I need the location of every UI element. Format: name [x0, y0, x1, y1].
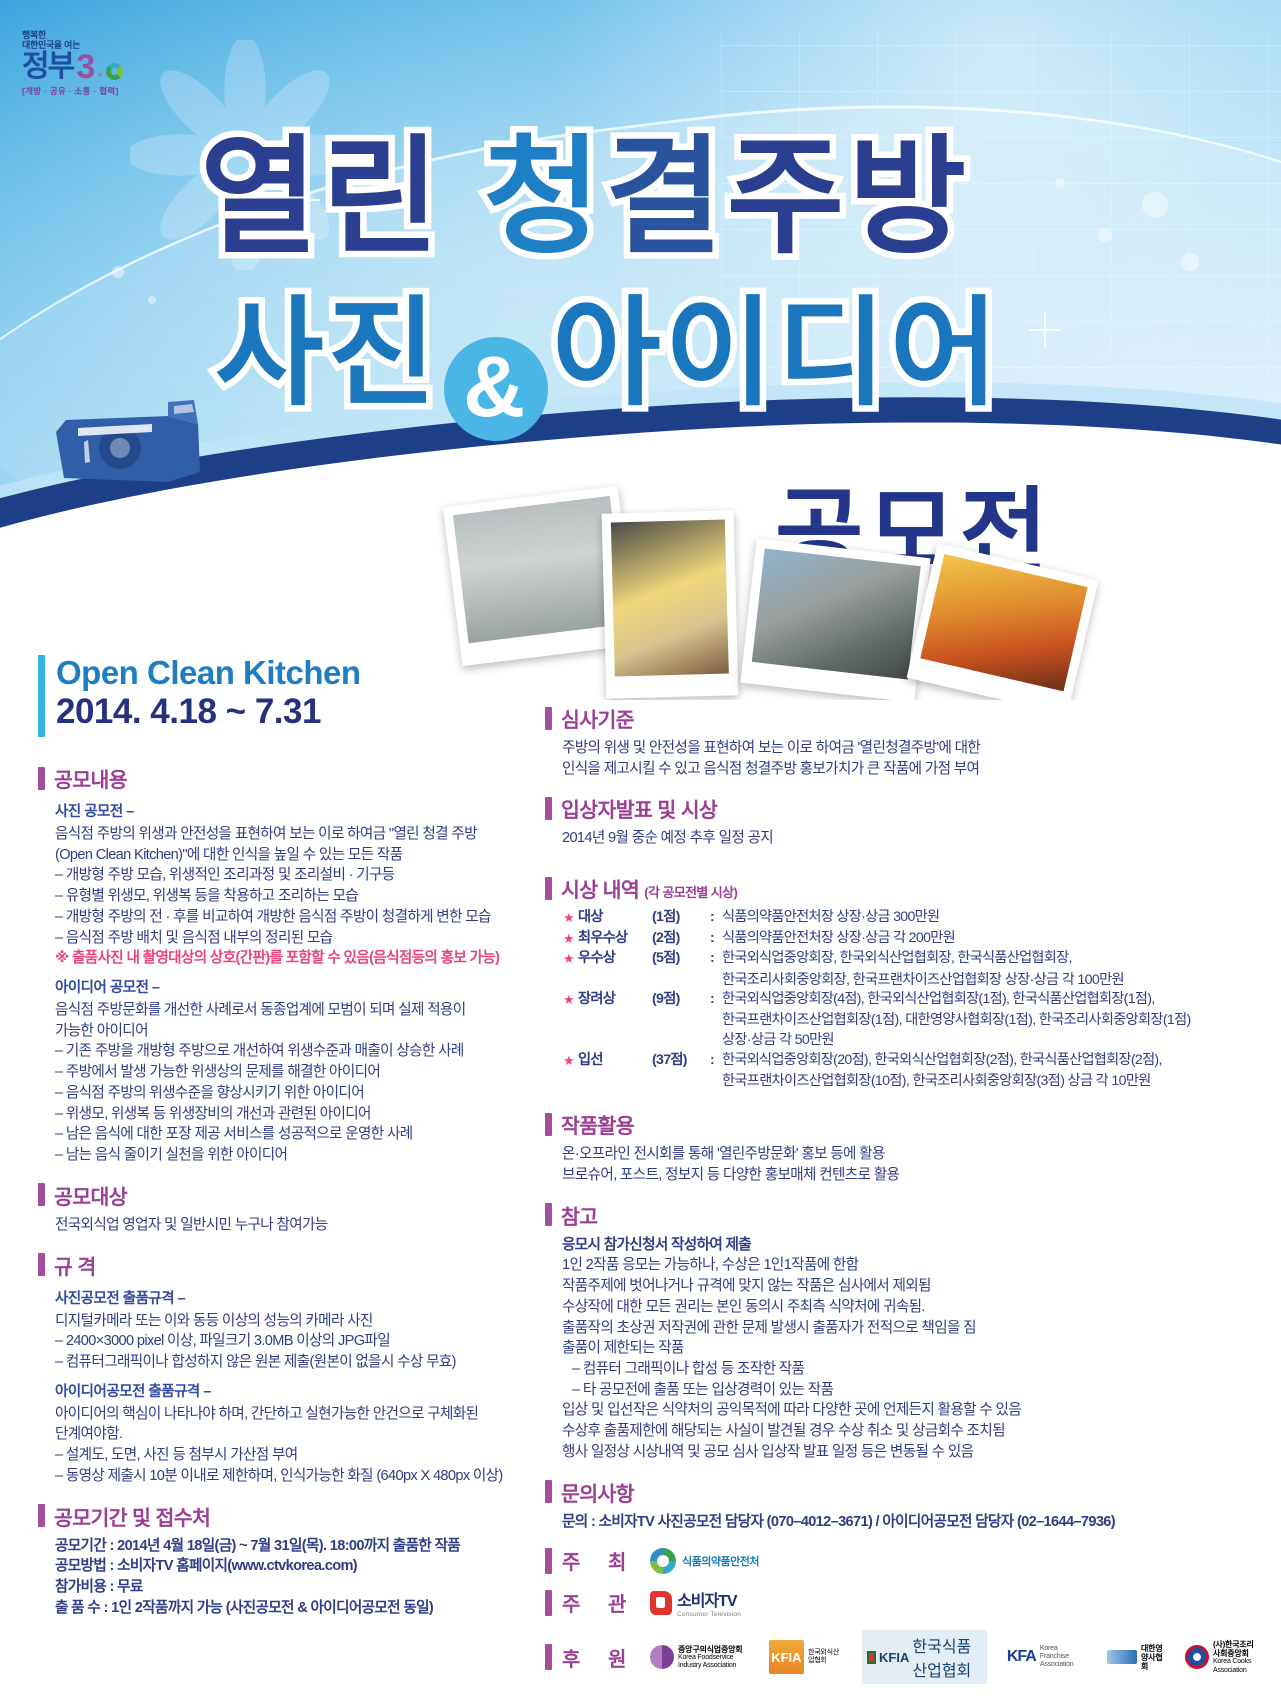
award-row: ★ 대상 (1점) : 식품의약품안전처장 상장·상금 300만원 [563, 908, 1257, 928]
accent-bar [545, 1113, 552, 1136]
award-name: 입선 [578, 1051, 652, 1070]
accent-bar [545, 707, 552, 730]
title-line-1: 열린 청결주방 [200, 93, 970, 278]
section-criteria: 심사기준 주방의 위생 및 안전성을 표현하여 보는 이로 하여금 '열린청결주… [545, 703, 1257, 779]
photo-image [611, 520, 729, 677]
mfds-ring-icon [650, 1548, 676, 1574]
section-title: 시상 내역 (각 공모전별 시상) [561, 873, 737, 903]
sponsor-sub: Korea Franchise Association [1040, 1645, 1087, 1669]
spec-idea-subhead: 아이디어공모전 출품규격 – [55, 1380, 536, 1401]
section-title: 작품활용 [561, 1109, 634, 1139]
sponsor-sub: Korea Cooks Association [1213, 1658, 1251, 1673]
sponsor-name: (사)한국조리사회중앙회 [1213, 1640, 1257, 1658]
photo-note: ※ 출품사진 내 촬영대상의 상호(간판)를 포함할 수 있음(음식점등의 홍보… [55, 948, 536, 969]
notes-line: 행사 일정상 시상내역 및 공모 심사 입상작 발표 일정 등은 변동될 수 있… [562, 1442, 1257, 1463]
sponsor-emblem-icon [1185, 1645, 1209, 1669]
announcement-text: 2014년 9월 중순 예정 추후 일정 공지 [562, 828, 1257, 849]
photo-item: – 개방형 주방 모습, 위생적인 조리과정 및 조리설비 · 기구등 [55, 865, 536, 886]
period-row: 참가비용 : 무료 [55, 1577, 536, 1598]
award-points: (37점) [652, 1051, 710, 1070]
ctv-mark-icon [650, 1591, 672, 1615]
award-name: 대상 [578, 908, 652, 927]
title-open: 열린 [200, 126, 483, 269]
notes-line: 출품이 제한되는 작품 [562, 1338, 1257, 1359]
photo-item: – 유형별 위생모, 위생복 등을 착용하고 조리하는 모습 [55, 886, 536, 907]
star-icon: ★ [563, 929, 578, 949]
award-name: 우수상 [578, 949, 652, 968]
spec-photo-line: 디지털카메라 또는 이와 동등 이상의 성능의 카메라 사진 [55, 1311, 536, 1332]
sponsor-logo: KFIA 한국외식산업협회 [769, 1640, 842, 1674]
sponsor-logos: 중앙구의식업중앙회Korea Foodservice Industry Asso… [650, 1630, 1257, 1684]
section-body: 사진 공모전 – 음식점 주방의 위생과 안전성을 표현하여 보는 이로 하여금… [38, 800, 536, 1166]
usage-line: 온·오프라인 전시회를 통해 '열린주방문화' 홍보 등에 활용 [562, 1144, 1257, 1165]
spec-idea-item: – 동영상 제출시 10분 이내로 제한하며, 인식가능한 화질 (640px … [55, 1466, 536, 1487]
spec-idea-line-1: 아이디어의 핵심이 나타나야 하며, 간단하고 실현가능한 안건으로 구체화된 [55, 1404, 536, 1425]
awards-table: ★ 대상 (1점) : 식품의약품안전처장 상장·상금 300만원 ★ 최우수상… [545, 908, 1257, 1091]
spec-idea-item: – 설계도, 도면, 사진 등 첨부시 가산점 부여 [55, 1445, 536, 1466]
award-colon: : [710, 1051, 722, 1070]
photo-restaurant-interior [602, 510, 739, 698]
ctv-logo-name: 소비자TV [677, 1587, 741, 1611]
camera-icon [48, 390, 213, 500]
host-label: 주 최 [562, 1546, 640, 1575]
award-points: (1점) [652, 908, 710, 927]
award-desc-cont: 한국프랜차이즈산업협회장(1점), 대한영양사협회장(1점), 한국조리사회중앙… [563, 1010, 1257, 1030]
section-header: 심사기준 [545, 703, 1257, 733]
section-body: 응모시 참가신청서 작성하여 제출 1인 2작품 응모는 가능하나, 수상은 1… [545, 1235, 1257, 1463]
period-row: 출 품 수 : 1인 2작품까지 가능 (사진공모전 & 아이디어공모전 동일) [55, 1598, 536, 1619]
section-header: 문의사항 [545, 1477, 1257, 1507]
section-target: 공모대상 전국외식업 영업자 및 일반시민 누구나 참여가능 [38, 1180, 536, 1236]
section-awards: 시상 내역 (각 공모전별 시상) ★ 대상 (1점) : 식품의약품안전처장 … [545, 873, 1257, 1091]
section-title: 공모기간 및 접수처 [54, 1501, 210, 1531]
section-header: 규 격 [38, 1250, 536, 1280]
section-body: 온·오프라인 전시회를 통해 '열린주방문화' 홍보 등에 활용 브로슈어, 포… [545, 1144, 1257, 1185]
spec-photo-item: – 컴퓨터그래픽이나 합성하지 않은 원본 제출(원본이 없을시 수상 무효) [55, 1352, 536, 1373]
sponsor-logo: 중앙구의식업중앙회Korea Foodservice Industry Asso… [650, 1645, 749, 1670]
section-title: 규 격 [54, 1250, 96, 1280]
criteria-line-1: 주방의 위생 및 안전성을 표현하여 보는 이로 하여금 '열린청결주방'에 대… [562, 738, 1257, 759]
sponsor-logo: 대한영양사협회 [1107, 1644, 1165, 1672]
sponsor-name: 대한영양사협회 [1141, 1644, 1165, 1672]
award-desc: 한국외식업중앙회장(20점), 한국외식산업협회장(2점), 한국식품산업협회장… [722, 1051, 1257, 1070]
idea-contest-subhead: 아이디어 공모전 – [55, 976, 536, 997]
ampersand-icon: & [444, 337, 548, 441]
idea-item: – 남는 음식 줄이기 실천을 위한 아이디어 [55, 1145, 536, 1166]
section-usage: 작품활용 온·오프라인 전시회를 통해 '열린주방문화' 홍보 등에 활용 브로… [545, 1109, 1257, 1185]
award-row: ★ 장려상 (9점) : 한국외식업중앙회장(4점), 한국외식산업협회장(1점… [563, 990, 1257, 1010]
accent-bar [545, 1644, 552, 1670]
sponsor-name: KFA [1007, 1648, 1036, 1666]
award-desc-cont: 상장·상금 각 50만원 [563, 1030, 1257, 1050]
star-icon: ★ [563, 949, 578, 969]
accent-bar [545, 877, 552, 900]
star-icon: ★ [563, 1051, 578, 1071]
accent-bar [545, 1203, 552, 1226]
title-idea: 아이디어 [552, 288, 1002, 420]
section-contents: 공모내용 사진 공모전 – 음식점 주방의 위생과 안전성을 표현하여 보는 이… [38, 763, 536, 1166]
title-clean-2: 결 [605, 126, 727, 269]
award-points: (2점) [652, 929, 710, 948]
sponsor-logo: (사)한국조리사회중앙회Korea Cooks Association [1185, 1640, 1257, 1674]
award-desc: 식품의약품안전처장 상장·상금 300만원 [722, 908, 1257, 927]
award-colon: : [710, 990, 722, 1009]
section-title: 참고 [561, 1200, 598, 1230]
award-desc-cont: 한국조리사회중앙회장, 한국프랜차이즈산업협회장 상장·상금 각 100만원 [563, 970, 1257, 990]
gov-logo-line1: 행복한 [22, 30, 182, 40]
criteria-line-2: 인식을 제고시킬 수 있고 음식점 청결주방 홍보가치가 큰 작품에 가점 부여 [562, 759, 1257, 780]
award-desc: 한국외식업중앙회장(4점), 한국외식산업협회장(1점), 한국식품산업협회장(… [722, 990, 1257, 1009]
period-row: 공모방법 : 소비자TV 홈페이지(www.ctvkorea.com) [55, 1556, 536, 1577]
usage-line: 브로슈어, 포스트, 정보지 등 다양한 홍보매체 컨텐츠로 활용 [562, 1165, 1257, 1186]
photo-intro-line-1: 음식점 주방의 위생과 안전성을 표현하여 보는 이로 하여금 "열린 청결 주… [55, 824, 536, 845]
organizer-row: 주 관 소비자TV Consumer Television [545, 1587, 1257, 1618]
title-clean-1: 청 [483, 126, 605, 269]
idea-item: – 기존 주방을 개방형 주방으로 개선하여 위생수준과 매출이 상승한 사례 [55, 1041, 536, 1062]
section-header: 작품활용 [545, 1109, 1257, 1139]
sponsor-sub: 한국외식산업협회 [808, 1649, 839, 1664]
photo-item: – 개방형 주방의 전 · 후를 비교하여 개방한 음식점 주방이 청결하게 변… [55, 907, 536, 928]
section-body: 문의 : 소비자TV 사진공모전 담당자 (070–4012–3671) / 아… [545, 1512, 1257, 1533]
notes-first: 응모시 참가신청서 작성하여 제출 [562, 1235, 1257, 1256]
notes-line: 출품작의 초상권 저작권에 관한 문제 발생시 출품자가 전적으로 책임을 짐 [562, 1318, 1257, 1339]
sponsor-name: KFIA [879, 1650, 909, 1665]
idea-item: – 위생모, 위생복 등 위생장비의 개선과 관련된 아이디어 [55, 1104, 536, 1125]
award-desc-cont: 한국프랜차이즈산업협회장(10점), 한국조리사회중앙회장(3점) 상금 각 1… [563, 1071, 1257, 1091]
program-title-block: Open Clean Kitchen 2014. 4.18 ~ 7.31 [38, 655, 536, 737]
award-points: (9점) [652, 990, 710, 1009]
notes-line: 수상작에 대한 모든 권리는 본인 동의시 주최측 식약처에 귀속됨. [562, 1297, 1257, 1318]
awards-heading-sub: (각 공모전별 시상) [644, 885, 737, 900]
accent-bar [38, 655, 45, 737]
section-period: 공모기간 및 접수처 공모기간 : 2014년 4월 18일(금) ~ 7월 3… [38, 1501, 536, 1619]
section-title: 공모내용 [54, 763, 127, 793]
sponsor-sub: 한국식품산업협회 [912, 1633, 981, 1681]
award-name: 최우수상 [578, 929, 652, 948]
sponsor-sub: Korea Foodservice Industry Association [678, 1654, 736, 1669]
sponsor-logo: KFA Korea Franchise Association [1007, 1645, 1087, 1669]
photo-intro-line-2: (Open Clean Kitchen)"에 대한 인식을 높일 수 있는 모든… [55, 845, 536, 866]
accent-bar [545, 1590, 552, 1616]
period-row: 공모기간 : 2014년 4월 18일(금) ~ 7월 31일(목). 18:0… [55, 1536, 536, 1557]
photo-open-counter [740, 539, 930, 700]
award-colon: : [710, 949, 722, 968]
spec-photo-subhead: 사진공모전 출품규격 – [55, 1287, 536, 1308]
section-title: 공모대상 [54, 1180, 127, 1210]
accent-bar [38, 1183, 45, 1206]
spec-photo-item: – 2400×3000 pixel 이상, 파일크기 3.0MB 이상의 JPG… [55, 1331, 536, 1352]
award-row: ★ 우수상 (5점) : 한국외식업중앙회장, 한국외식산업협회장, 한국식품산… [563, 949, 1257, 969]
accent-bar [545, 1480, 552, 1503]
sponsor-emblem-icon [1107, 1650, 1137, 1664]
section-notes: 참고 응모시 참가신청서 작성하여 제출 1인 2작품 응모는 가능하나, 수상… [545, 1200, 1257, 1463]
notes-line: – 타 공모전에 출품 또는 입상경력이 있는 작품 [562, 1380, 1257, 1401]
right-column: 심사기준 주방의 위생 및 안전성을 표현하여 보는 이로 하여금 '열린청결주… [545, 703, 1257, 1684]
sponsors-label: 후 원 [562, 1643, 640, 1672]
poster-banner: 행복한 대한민국을 여는 정부 3 . [개방 · 공유 · 소통 · 협력] … [0, 0, 1281, 700]
award-desc: 식품의약품안전처장 상장·상금 각 200만원 [722, 929, 1257, 948]
section-title: 심사기준 [561, 703, 634, 733]
host-row: 주 최 식품의약품안전처 [545, 1546, 1257, 1575]
photo-image [752, 549, 921, 680]
program-dates: 2014. 4.18 ~ 7.31 [56, 692, 361, 731]
spec-idea-line-2: 단계여야함. [55, 1424, 536, 1445]
idea-item: – 남은 음식에 대한 포장 제공 서비스를 성공적으로 운영한 사례 [55, 1124, 536, 1145]
program-title: Open Clean Kitchen [56, 655, 361, 692]
section-inquiry: 문의사항 문의 : 소비자TV 사진공모전 담당자 (070–4012–3671… [545, 1477, 1257, 1533]
photo-image [920, 554, 1087, 691]
sponsor-emblem-icon [650, 1645, 674, 1669]
section-header: 공모기간 및 접수처 [38, 1501, 536, 1531]
star-icon: ★ [563, 990, 578, 1010]
title-kitchen: 주방 [727, 126, 971, 269]
section-title: 문의사항 [561, 1477, 634, 1507]
section-header: 참고 [545, 1200, 1257, 1230]
organizer-label: 주 관 [562, 1588, 640, 1617]
section-header: 입상자발표 및 시상 [545, 793, 1257, 823]
section-body: 사진공모전 출품규격 – 디지털카메라 또는 이와 동등 이상의 성능의 카메라… [38, 1287, 536, 1487]
section-header: 시상 내역 (각 공모전별 시상) [545, 873, 1257, 903]
award-colon: : [710, 908, 722, 927]
sponsors-row: 후 원 중앙구의식업중앙회Korea Foodservice Industry … [545, 1630, 1257, 1684]
accent-bar [38, 767, 45, 790]
section-body: 공모기간 : 2014년 4월 18일(금) ~ 7월 31일(목). 18:0… [38, 1536, 536, 1619]
sponsor-name: 중앙구의식업중앙회 [678, 1645, 749, 1654]
section-body: 전국외식업 영업자 및 일반시민 누구나 참여가능 [38, 1215, 536, 1236]
section-header: 공모대상 [38, 1180, 536, 1210]
accent-bar [38, 1504, 45, 1527]
award-desc: 한국외식업중앙회장, 한국외식산업협회장, 한국식품산업협회장, [722, 949, 1257, 968]
star-icon: ★ [563, 908, 578, 928]
idea-item: – 음식점 주방의 위생수준을 향상시키기 위한 아이디어 [55, 1083, 536, 1104]
mfds-logo-name: 식품의약품안전처 [682, 1553, 759, 1569]
title-photo: 사진 [215, 288, 440, 420]
accent-bar [545, 797, 552, 820]
photo-item: – 음식점 주방 배치 및 음식점 내부의 정리된 모습 [55, 928, 536, 949]
sponsor-logo: KFIA 한국식품산업협회 [862, 1630, 987, 1684]
inquiry-text: 문의 : 소비자TV 사진공모전 담당자 (070–4012–3671) / 아… [562, 1512, 1257, 1533]
photo-contest-subhead: 사진 공모전 – [55, 800, 536, 821]
idea-item: – 주방에서 발생 가능한 위생상의 문제를 해결한 아이디어 [55, 1062, 536, 1083]
sponsor-emblem-icon: KFIA [769, 1640, 804, 1674]
notes-line: 입상 및 입선작은 식약처의 공익목적에 따라 다양한 곳에 언제든지 활용할 … [562, 1400, 1257, 1421]
award-points: (5점) [652, 949, 710, 968]
idea-intro-line-2: 가능한 아이디어 [55, 1021, 536, 1042]
award-row: ★ 최우수상 (2점) : 식품의약품안전처장 상장·상금 각 200만원 [563, 929, 1257, 949]
award-colon: : [710, 929, 722, 948]
title-line-2: 사진&아이디어 [215, 257, 1002, 441]
gov-logo-line2: 대한민국을 여는 [22, 40, 182, 50]
ctv-logo-sub: Consumer Television [677, 1611, 741, 1618]
section-spec: 규 격 사진공모전 출품규격 – 디지털카메라 또는 이와 동등 이상의 성능의… [38, 1250, 536, 1487]
award-name: 장려상 [578, 990, 652, 1009]
section-header: 공모내용 [38, 763, 536, 793]
award-row: ★ 입선 (37점) : 한국외식업중앙회장(20점), 한국외식산업협회장(2… [563, 1051, 1257, 1071]
notes-line: 1인 2작품 응모는 가능하나, 수상은 1인1작품에 한함 [562, 1255, 1257, 1276]
section-title: 입상자발표 및 시상 [561, 793, 717, 823]
accent-bar [545, 1548, 552, 1574]
target-text: 전국외식업 영업자 및 일반시민 누구나 참여가능 [55, 1215, 536, 1236]
section-body: 2014년 9월 중순 예정 추후 일정 공지 [545, 828, 1257, 849]
awards-heading: 시상 내역 [561, 879, 639, 902]
left-column: Open Clean Kitchen 2014. 4.18 ~ 7.31 공모내… [38, 655, 536, 1632]
mfds-logo: 식품의약품안전처 [650, 1548, 759, 1574]
photo-image [453, 496, 626, 643]
notes-line: – 컴퓨터 그래픽이나 합성 등 조작한 작품 [562, 1359, 1257, 1380]
section-announcement: 입상자발표 및 시상 2014년 9월 중순 예정 추후 일정 공지 [545, 793, 1257, 849]
idea-intro-line-1: 음식점 주방문화를 개선한 사례로서 동종업계에 모범이 되며 실제 적용이 [55, 1000, 536, 1021]
section-body: 주방의 위생 및 안전성을 표현하여 보는 이로 하여금 '열린청결주방'에 대… [545, 738, 1257, 779]
sponsor-emblem-icon [867, 1651, 876, 1664]
ctv-logo: 소비자TV Consumer Television [650, 1587, 741, 1618]
notes-line: 작품주제에 벗어나거나 규격에 맞지 않는 작품은 심사에서 제외됨 [562, 1276, 1257, 1297]
accent-bar [38, 1253, 45, 1276]
notes-line: 수상후 출품제한에 해당되는 사실이 발견될 경우 수상 취소 및 상금회수 조… [562, 1421, 1257, 1442]
